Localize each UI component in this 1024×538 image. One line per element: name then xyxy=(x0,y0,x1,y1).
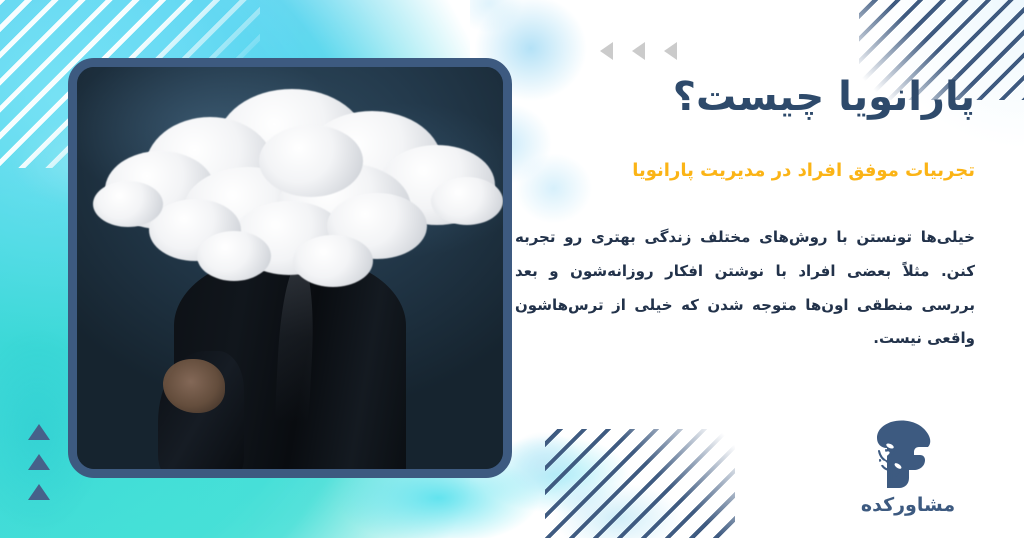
triangle-left-icon xyxy=(664,42,677,60)
brand-logo: مشاورکده xyxy=(844,418,972,516)
photo-hands xyxy=(163,359,225,413)
person-with-cloud-head-photo xyxy=(77,67,503,469)
gray-arrow-group xyxy=(600,42,677,60)
navy-triangle-group xyxy=(28,424,50,500)
page-subtitle: تجربیات موفق افراد در مدیریت پارانویا xyxy=(515,158,975,183)
triangle-up-icon xyxy=(28,454,50,470)
page-title: پارانویا چیست؟ xyxy=(515,72,975,122)
text-column: پارانویا چیست؟ تجربیات موفق افراد در مدی… xyxy=(515,72,975,356)
body-paragraph: خیلی‌ها تونستن با روش‌های مختلف زندگی به… xyxy=(515,221,975,356)
triangle-left-icon xyxy=(632,42,645,60)
triangle-up-icon xyxy=(28,484,50,500)
triangle-up-icon xyxy=(28,424,50,440)
cloud-head-icon xyxy=(87,89,503,289)
triangle-left-icon xyxy=(600,42,613,60)
brand-name: مشاورکده xyxy=(844,494,972,516)
diagonal-stripes-navy-bottom-icon xyxy=(545,429,735,538)
poster-canvas: پارانویا چیست؟ تجربیات موفق افراد در مدی… xyxy=(0,0,1024,538)
photo-frame xyxy=(68,58,512,478)
head-with-plants-icon xyxy=(865,418,951,492)
